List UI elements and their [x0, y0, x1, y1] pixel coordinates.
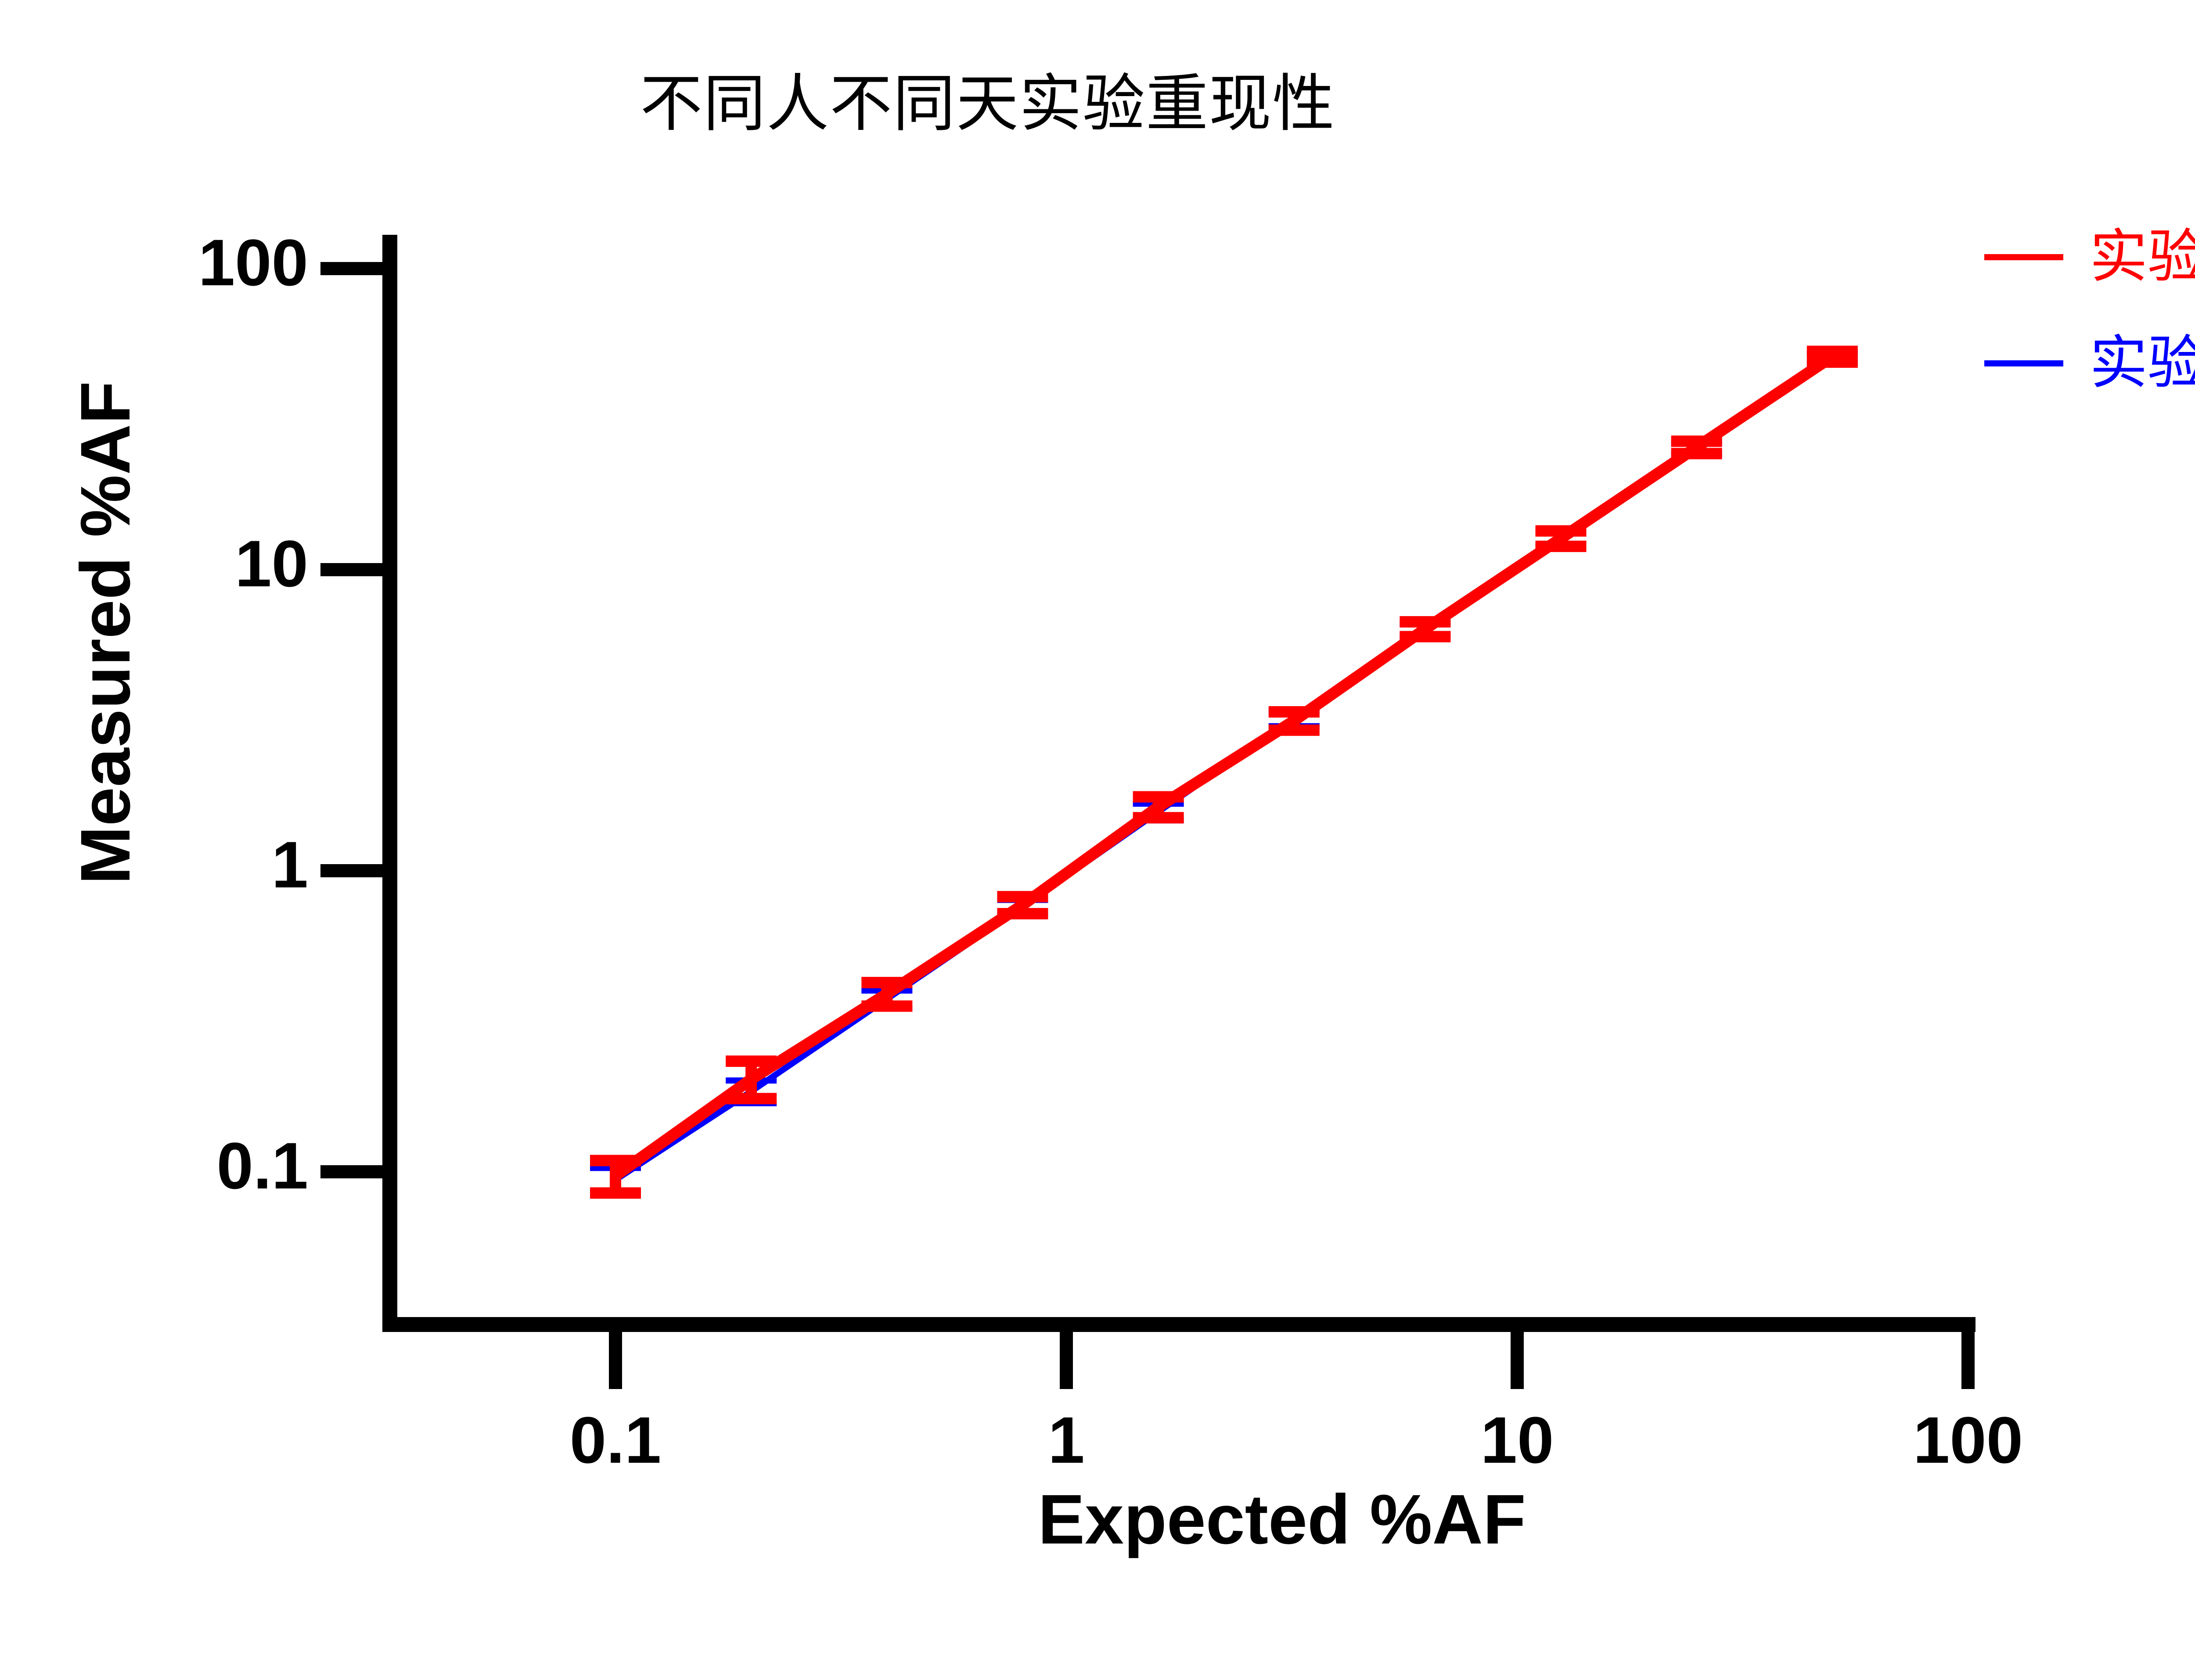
legend-item[interactable]: 实验员B Day2 — [1984, 334, 2195, 392]
x-tick-label: 10 — [1385, 1402, 1649, 1478]
legend-line-icon — [1984, 360, 2063, 366]
legend-label: 实验员A Day1 — [2090, 228, 2195, 286]
legend-line-icon — [1984, 254, 2063, 260]
y-axis-ticks — [320, 269, 390, 1172]
legend-label: 实验员B Day2 — [2090, 334, 2195, 392]
x-axis-ticks — [615, 1325, 1968, 1389]
y-tick-label: 0.1 — [62, 1128, 308, 1204]
chart-legend: 实验员A Day1实验员B Day2 — [1984, 228, 2195, 392]
x-tick-label: 100 — [1836, 1402, 2100, 1478]
legend-item[interactable]: 实验员A Day1 — [1984, 228, 2195, 286]
x-tick-label: 1 — [935, 1402, 1198, 1478]
series-group — [590, 352, 1858, 1193]
x-tick-label: 0.1 — [484, 1402, 747, 1478]
series-layer — [590, 352, 1858, 1193]
y-axis-title: Measured %AF — [65, 282, 146, 984]
chart-canvas: 不同人不同天实验重现性 0.1110100 0.1110100 Measured… — [0, 0, 2195, 1680]
x-axis-title: Expected %AF — [579, 1479, 1984, 1560]
series-line — [615, 357, 1832, 1176]
